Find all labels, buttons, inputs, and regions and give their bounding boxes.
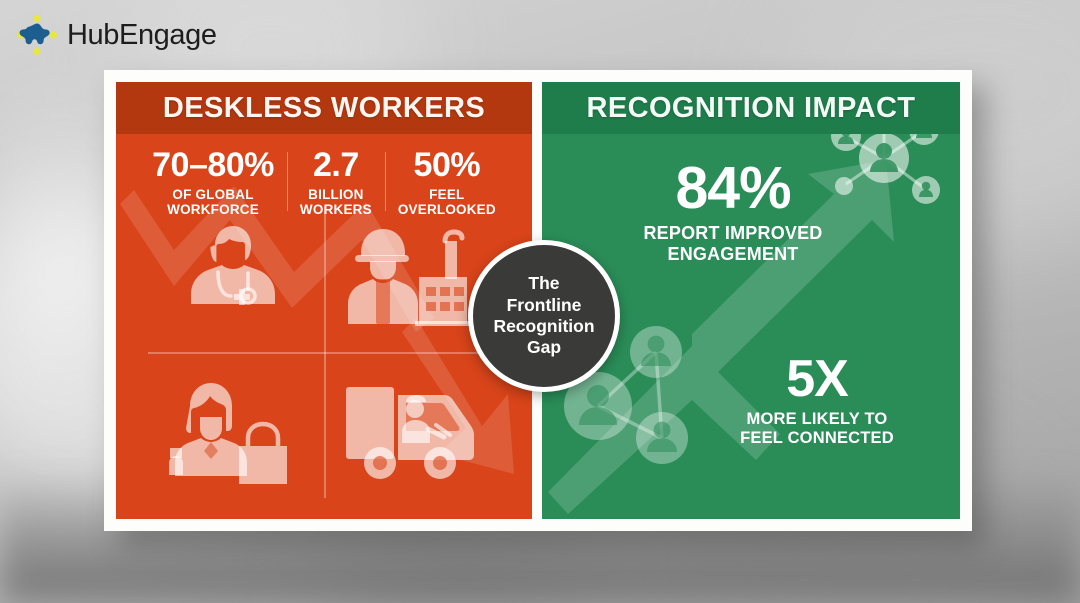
left-panel-header: DESKLESS WORKERS [116,82,532,134]
stat-global-workforce: 70–80% OF GLOBAL WORKFORCE [139,148,287,217]
left-panel-title: DESKLESS WORKERS [163,92,485,125]
stat-value: 2.7 [300,148,372,183]
worker-icon-grid [144,202,504,502]
hubengage-star-icon [16,14,58,56]
stat-label-line1: FEEL [429,187,464,202]
stat-value: 70–80% [152,148,274,183]
stat-label-line2: FEEL CONNECTED [740,429,894,447]
stat-label-line1: REPORT IMPROVED [643,223,822,243]
center-badge-frontline-recognition-gap: The Frontline Recognition Gap [468,240,620,392]
stat-more-likely-feel-connected: 5X MORE LIKELY TO FEEL CONNECTED [702,354,932,448]
stat-report-improved-engagement: 84% REPORT IMPROVED ENGAGEMENT [608,160,858,265]
stat-value: 5X [702,354,932,405]
badge-text: The Frontline Recognition Gap [481,273,606,358]
badge-line1: The [528,273,559,293]
stat-billion-workers: 2.7 BILLION WORKERS [287,148,385,217]
stat-value: 84% [608,160,858,218]
stat-feel-overlooked: 50% FEEL OVERLOOKED [385,148,509,217]
badge-line2: Frontline [507,295,582,315]
brand-logo[interactable]: HubEngage [16,14,217,56]
stat-label: MORE LIKELY TO FEEL CONNECTED [702,410,932,448]
delivery-driver-icon [326,354,504,502]
stat-value: 50% [398,148,496,183]
brand-name: HubEngage [67,19,217,52]
stat-label: FEEL OVERLOOKED [398,187,496,218]
badge-line4: Gap [527,337,561,357]
stat-label-line2: WORKFORCE [167,202,259,217]
right-panel-title: RECOGNITION IMPACT [587,92,916,125]
stat-label-line1: MORE LIKELY TO [747,410,888,428]
healthcare-worker-icon [144,202,322,350]
stat-label-line2: OVERLOOKED [398,202,496,217]
stat-label-line1: BILLION [308,187,363,202]
badge-line3: Recognition [493,316,594,336]
stat-label: REPORT IMPROVED ENGAGEMENT [608,223,858,265]
stat-label-line1: OF GLOBAL [172,187,253,202]
stat-label-line2: WORKERS [300,202,372,217]
retail-worker-icon [144,354,322,502]
stat-label: OF GLOBAL WORKFORCE [152,187,274,218]
stat-label-line2: ENGAGEMENT [667,244,798,264]
left-stats-row: 70–80% OF GLOBAL WORKFORCE 2.7 BILLION W… [116,134,532,217]
stat-label: BILLION WORKERS [300,187,372,218]
right-panel-header: RECOGNITION IMPACT [542,82,960,134]
